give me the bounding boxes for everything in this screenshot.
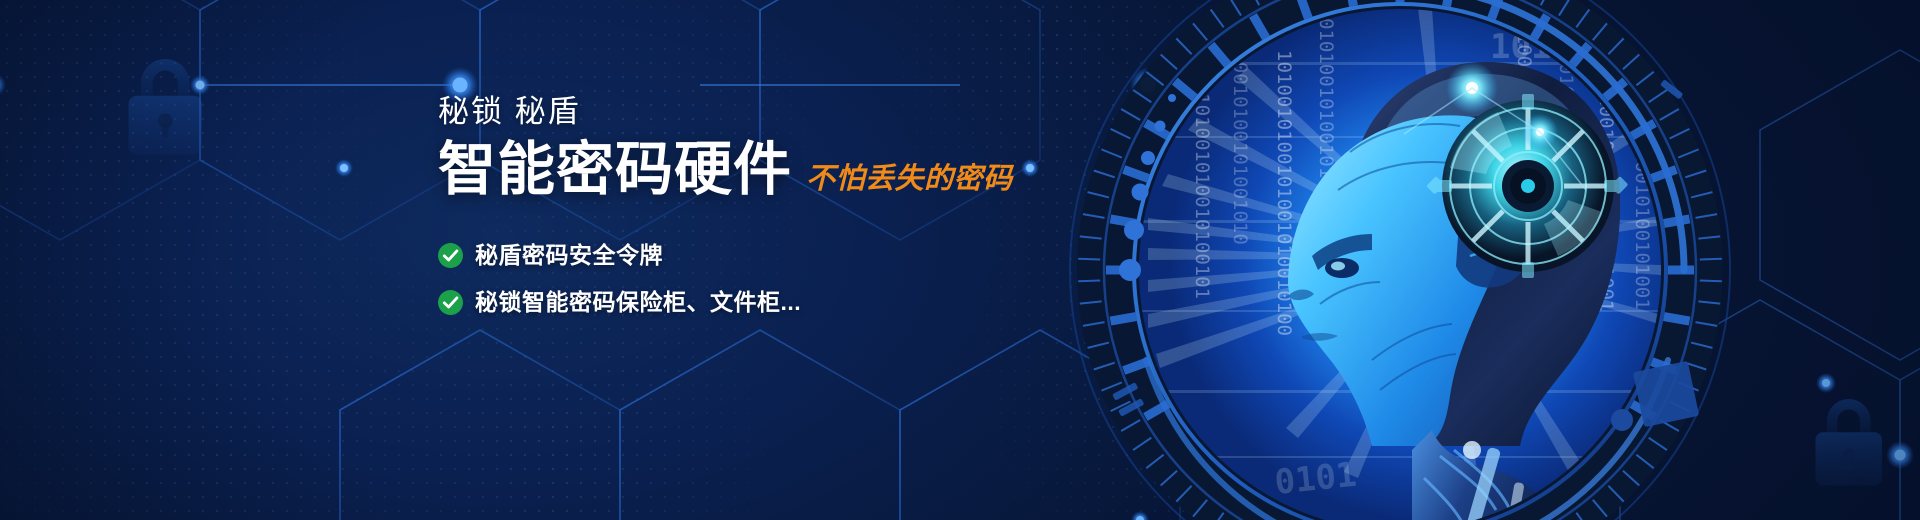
check-circle-icon — [438, 290, 463, 315]
list-item: 秘锁智能密码保险柜、文件柜... — [438, 290, 1078, 315]
svg-text:0101: 0101 — [1273, 455, 1359, 503]
list-item: 秘盾密码安全令牌 — [438, 243, 1078, 268]
feature-list: 秘盾密码安全令牌 秘锁智能密码保险柜、文件柜... — [438, 243, 1078, 315]
banner-tagline: 不怕丢失的密码 — [806, 165, 1013, 199]
banner-headline: 智能密码硬件 — [438, 141, 792, 199]
headline-row: 智能密码硬件 不怕丢失的密码 — [438, 141, 1078, 199]
ai-robot-visual: 10100101001010010100101 0101001010010100… — [1020, 0, 1780, 520]
feature-label: 秘盾密码安全令牌 — [475, 244, 663, 267]
banner-content: 秘锁 秘盾 智能密码硬件 不怕丢失的密码 秘盾密码安全令牌 秘锁智能密码保险柜、… — [438, 96, 1078, 315]
banner-eyebrow: 秘锁 秘盾 — [438, 96, 1078, 127]
feature-label: 秘锁智能密码保险柜、文件柜... — [475, 291, 801, 314]
hero-banner: 10100101001010010100101 0101001010010100… — [0, 0, 1920, 520]
check-circle-icon — [438, 243, 463, 268]
